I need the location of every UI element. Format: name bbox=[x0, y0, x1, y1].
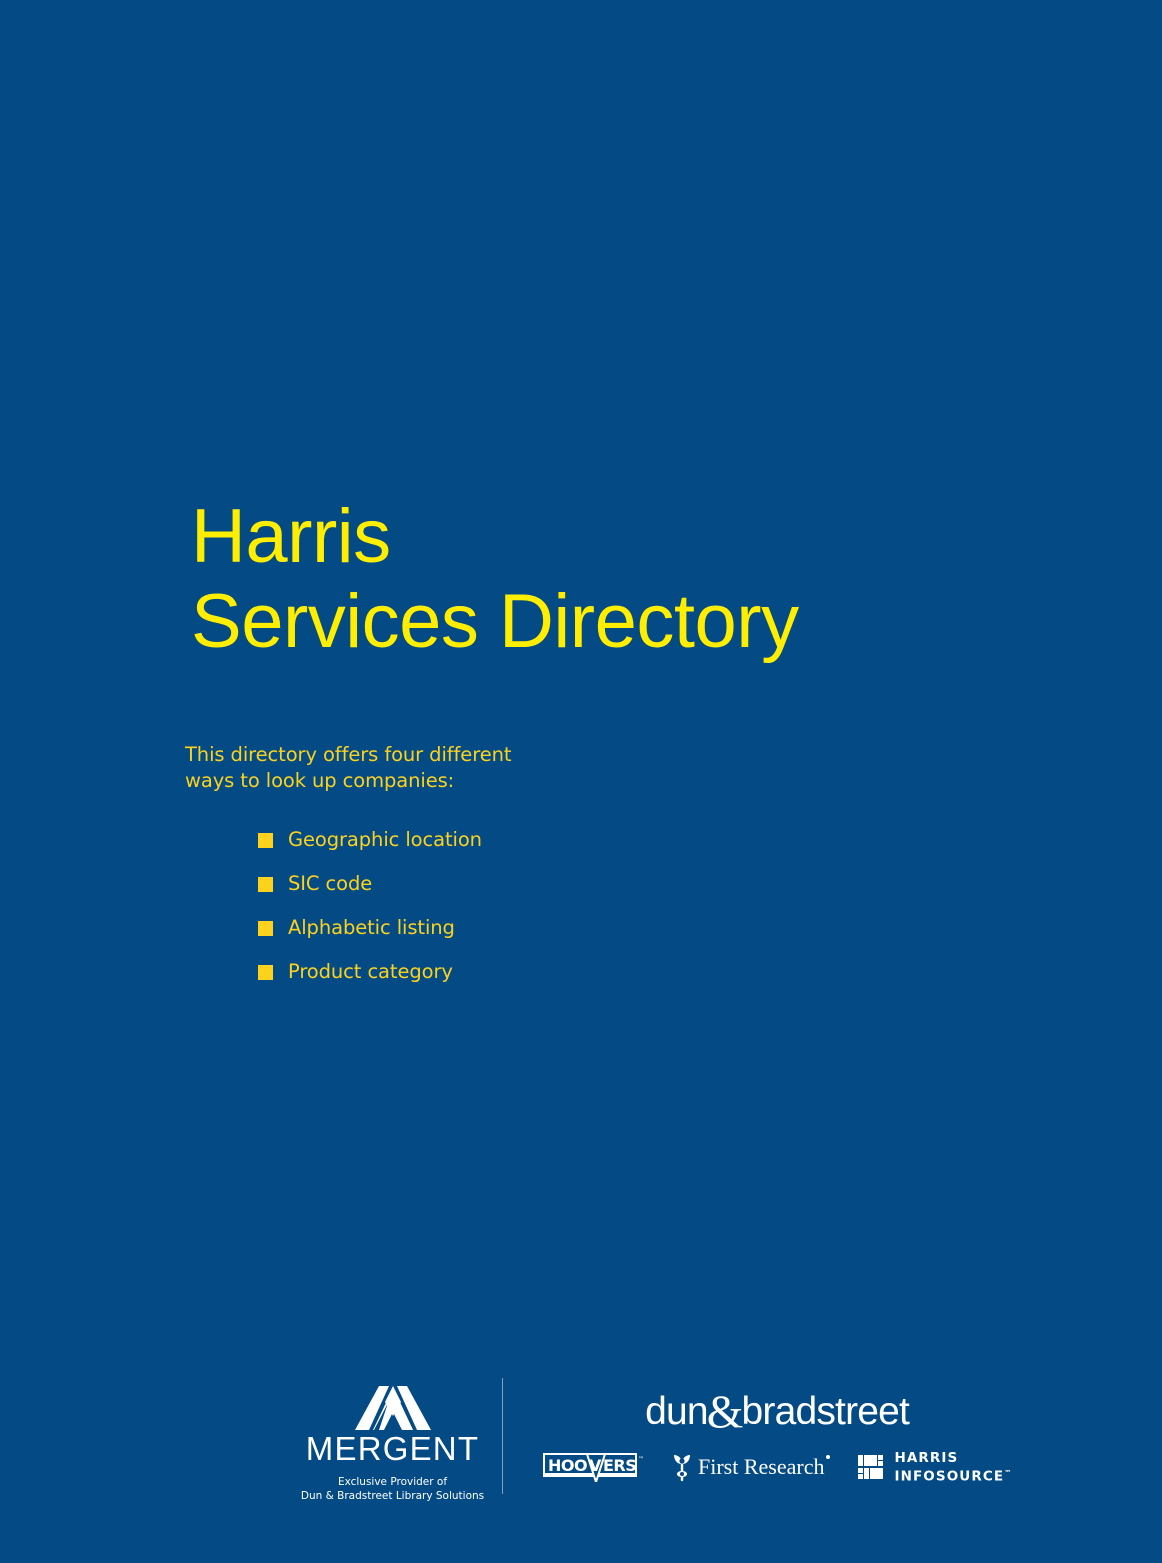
bullet-square-icon bbox=[258, 965, 273, 980]
dun-bradstreet-group: dun&bradstreet HOO V ERS ™ bbox=[543, 1372, 1011, 1484]
partner-logo-row: HOO V ERS ™ bbox=[543, 1451, 1011, 1484]
list-item: Product category bbox=[258, 949, 785, 993]
list-item-label: Alphabetic listing bbox=[288, 916, 455, 939]
mergent-wordmark: MERGENT bbox=[306, 1432, 479, 1466]
dun-bradstreet-wordmark: dun&bradstreet bbox=[645, 1388, 909, 1433]
title-line-primary: Harris bbox=[191, 494, 951, 579]
list-item: SIC code bbox=[258, 861, 785, 905]
footer-logo-bar: MERGENT Exclusive Provider of Dun & Brad… bbox=[0, 1372, 1162, 1512]
hoovers-logo: HOO V ERS ™ bbox=[543, 1452, 643, 1482]
mergent-tagline-line2: Dun & Bradstreet Library Solutions bbox=[301, 1489, 484, 1503]
list-item: Geographic location bbox=[258, 817, 785, 861]
footer-divider bbox=[502, 1378, 503, 1494]
dnb-word-right: bradstreet bbox=[742, 1391, 910, 1433]
hi-line1: HARRIS bbox=[894, 1451, 1011, 1466]
svg-text:™: ™ bbox=[638, 1456, 643, 1463]
lookup-methods-section: This directory offers four different way… bbox=[185, 742, 785, 993]
hi-trademark: ™ bbox=[1004, 1469, 1011, 1477]
svg-text:V: V bbox=[589, 1456, 602, 1475]
hoovers-box-icon: HOO V ERS ™ bbox=[543, 1452, 643, 1482]
mergent-tagline-line1: Exclusive Provider of bbox=[338, 1475, 447, 1489]
first-research-logo: First Research bbox=[671, 1452, 830, 1482]
dnb-word-left: dun bbox=[645, 1391, 708, 1433]
harris-infosource-wordmark: HARRIS INFOSOURCE™ bbox=[894, 1451, 1011, 1484]
mergent-logo: MERGENT Exclusive Provider of Dun & Brad… bbox=[305, 1372, 480, 1503]
dnb-ampersand: & bbox=[707, 1391, 743, 1433]
harris-infosource-logo: HARRIS INFOSOURCE™ bbox=[858, 1451, 1011, 1484]
bullet-square-icon bbox=[258, 877, 273, 892]
svg-text:ERS: ERS bbox=[603, 1456, 636, 1475]
list-item-label: Geographic location bbox=[288, 828, 482, 851]
svg-text:HOO: HOO bbox=[548, 1456, 587, 1475]
fr-text: First Research bbox=[698, 1454, 824, 1479]
hi-line2-text: INFOSOURCE bbox=[894, 1468, 1004, 1484]
list-item-label: Product category bbox=[288, 960, 453, 983]
bullet-square-icon bbox=[258, 921, 273, 936]
mergent-mountain-icon bbox=[349, 1384, 437, 1430]
title-line-secondary: Services Directory bbox=[191, 579, 951, 664]
page-title: Harris Services Directory bbox=[191, 494, 951, 664]
sprout-icon bbox=[671, 1452, 693, 1482]
bullet-square-icon bbox=[258, 833, 273, 848]
list-item-label: SIC code bbox=[288, 872, 372, 895]
block-grid-icon bbox=[858, 1455, 885, 1480]
cover-page: Harris Services Directory This directory… bbox=[0, 0, 1162, 1563]
list-item: Alphabetic listing bbox=[258, 905, 785, 949]
intro-paragraph: This directory offers four different way… bbox=[185, 742, 545, 794]
lookup-methods-list: Geographic location SIC code Alphabetic … bbox=[258, 817, 785, 993]
first-research-wordmark: First Research bbox=[698, 1455, 830, 1479]
fr-trademark-dot bbox=[826, 1455, 830, 1459]
hi-line2: INFOSOURCE™ bbox=[894, 1466, 1011, 1484]
